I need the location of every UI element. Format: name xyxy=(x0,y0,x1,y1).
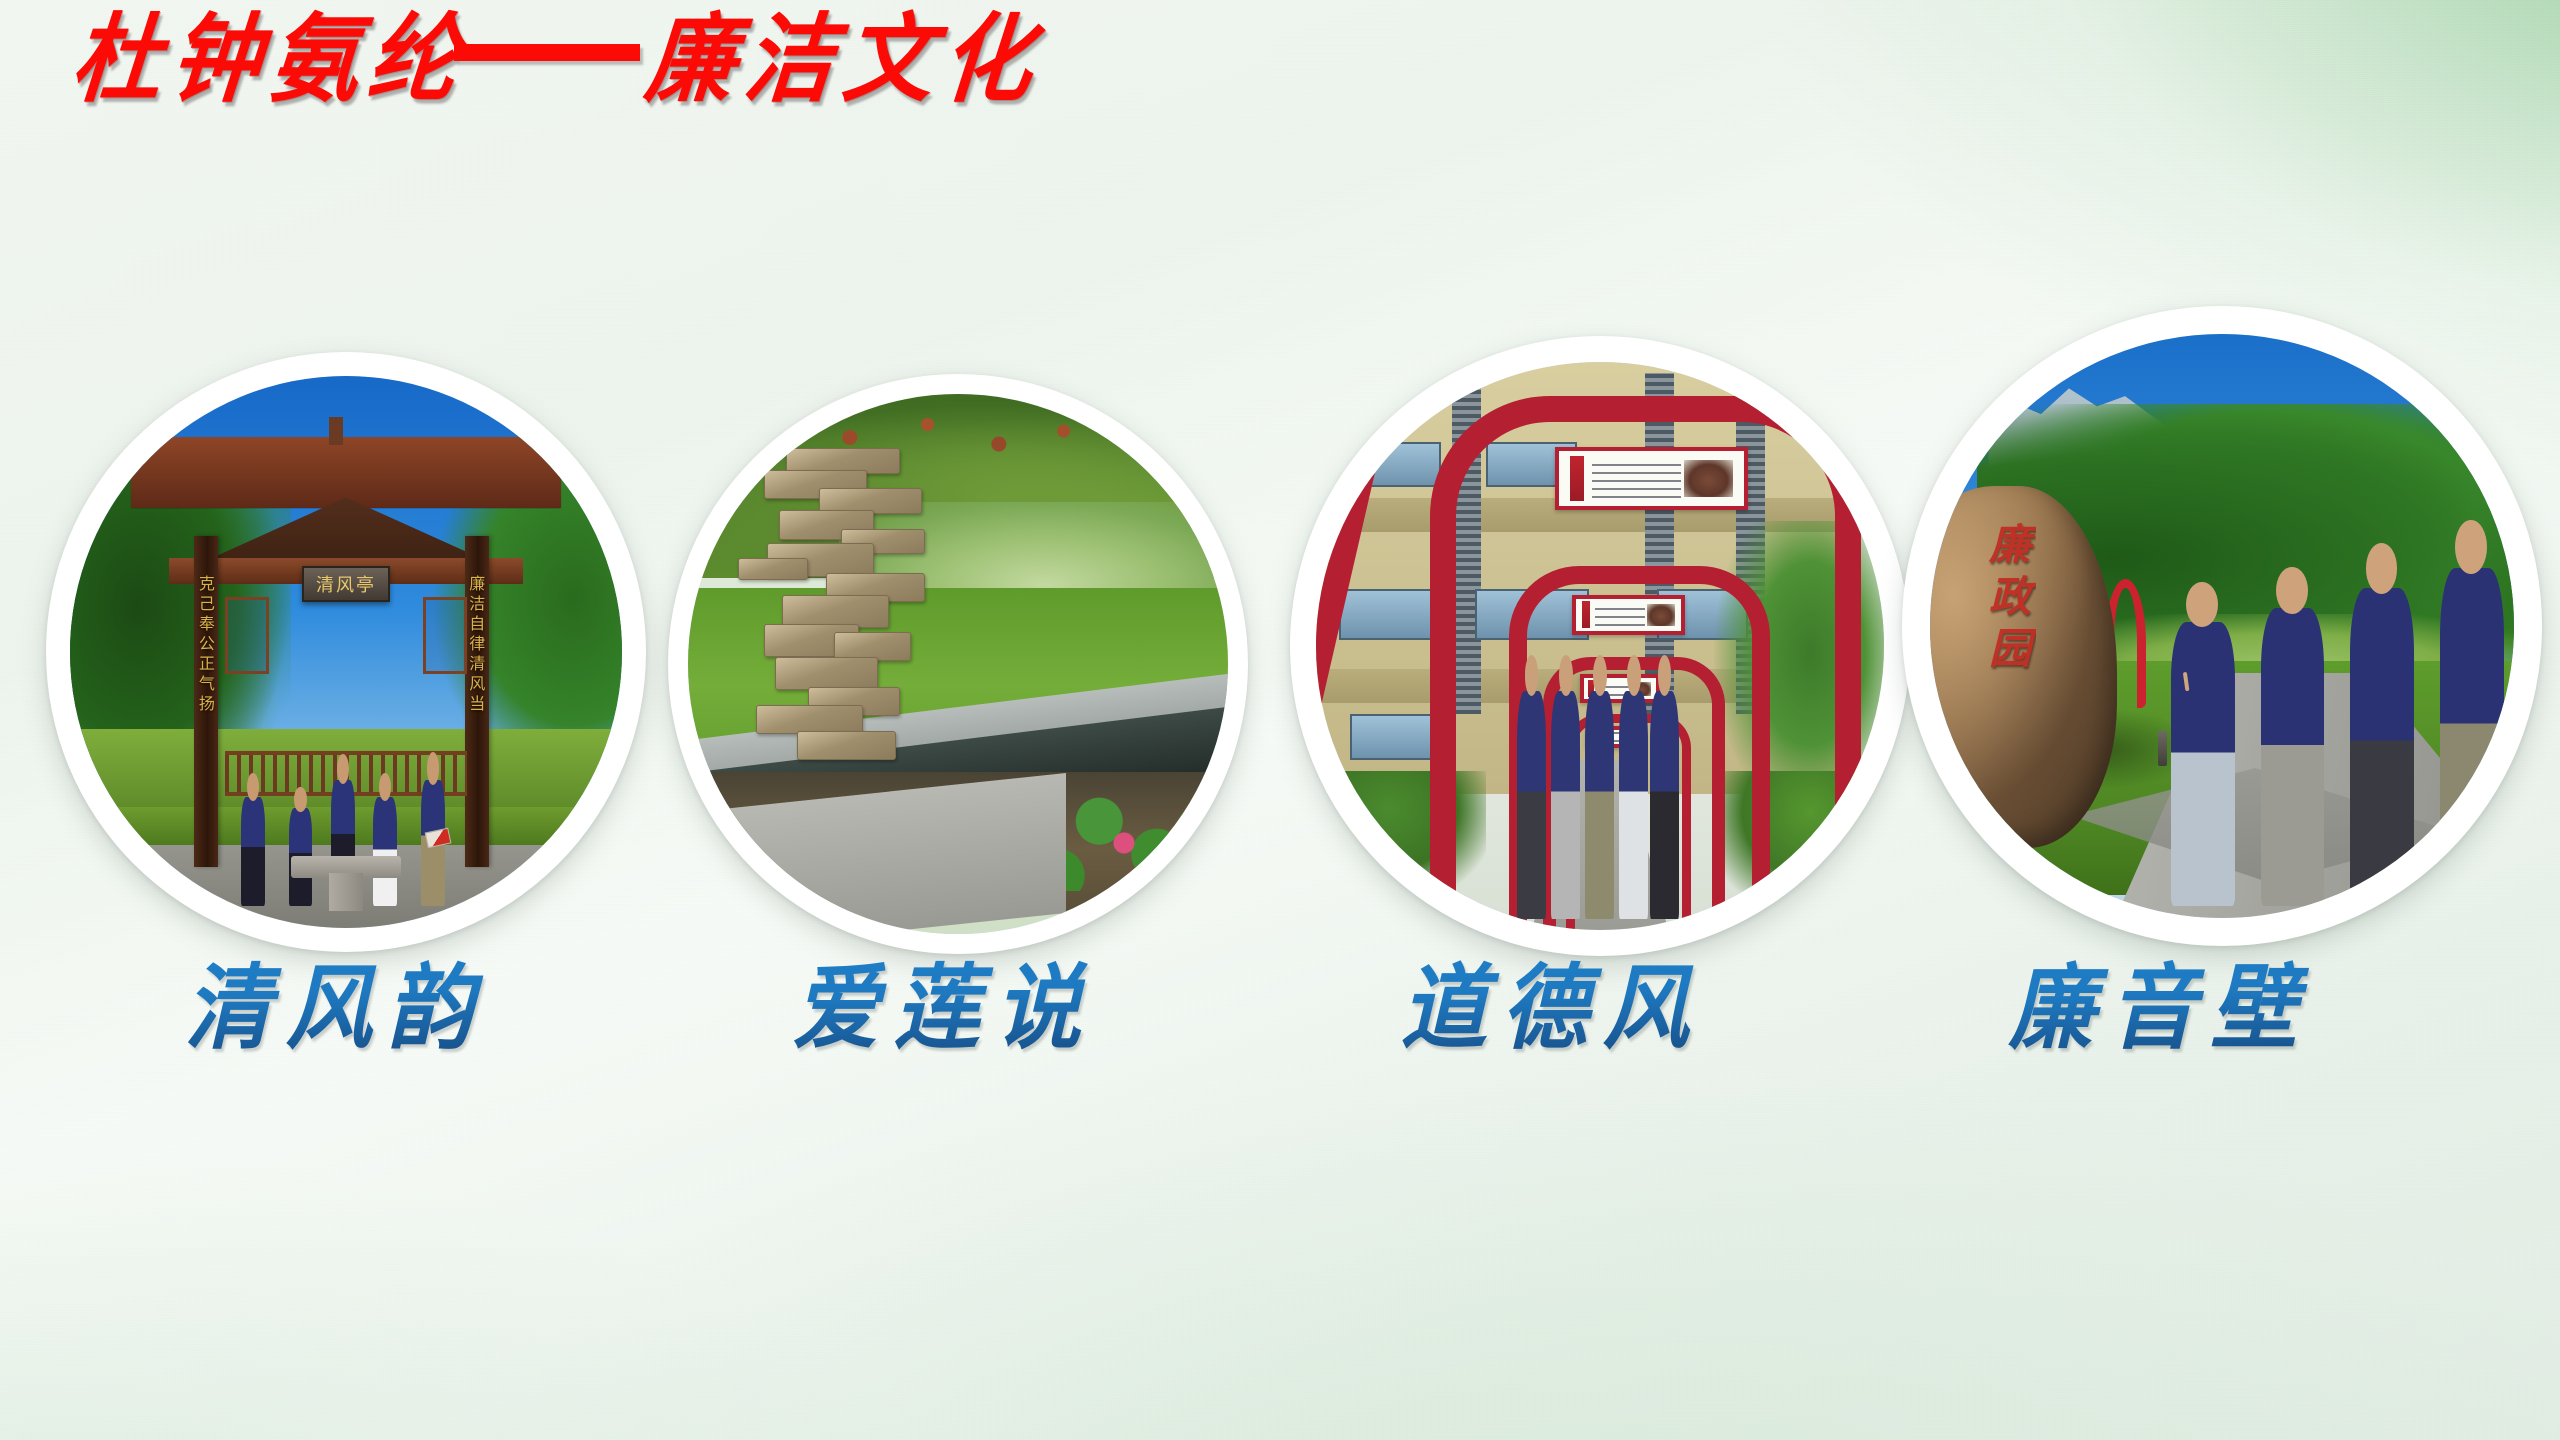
people-group xyxy=(1520,691,1690,918)
photo-image-3 xyxy=(1316,362,1884,930)
board-illustration xyxy=(1647,604,1674,626)
person xyxy=(1585,691,1614,918)
rockery-sculpture xyxy=(753,448,937,815)
person xyxy=(1650,691,1679,918)
person xyxy=(2171,622,2235,907)
person xyxy=(2261,608,2325,906)
board-title-bar xyxy=(1582,601,1590,628)
roof-finial xyxy=(329,417,342,445)
photo-image-4: 廉政园 xyxy=(1930,334,2514,918)
lattice-panel-left xyxy=(225,597,269,674)
person xyxy=(2350,588,2414,906)
booklet xyxy=(425,828,452,848)
person xyxy=(1619,691,1648,918)
scene-pavilion: 清风亭 克己奉公正气扬 廉洁自律清风当 xyxy=(70,376,622,928)
pavilion-plaque: 清风亭 xyxy=(302,566,390,602)
caption-photo-2: 爱莲说 xyxy=(697,953,1191,1064)
scene-engraved-boulder: 廉政园 xyxy=(1930,334,2514,918)
photo-card-1[interactable]: 清风亭 克己奉公正气扬 廉洁自律清风当 xyxy=(46,352,646,952)
person xyxy=(373,797,397,906)
slide-canvas: 杜钟氨纶 廉洁文化 xyxy=(0,0,2560,1440)
photo-card-2[interactable] xyxy=(668,374,1248,954)
board-title-bar xyxy=(1570,456,1585,502)
page-title: 杜钟氨纶 廉洁文化 xyxy=(72,14,1026,107)
person xyxy=(2440,568,2504,907)
people-group xyxy=(236,762,501,906)
pillar-couplet-right: 廉洁自律清风当 xyxy=(467,575,487,715)
rock-slab xyxy=(797,731,896,760)
stone-table-base xyxy=(329,873,362,912)
display-board-2 xyxy=(1572,595,1686,635)
pillar-couplet-left: 克己奉公正气扬 xyxy=(197,575,217,715)
photo-card-4[interactable]: 廉政园 xyxy=(1902,306,2542,946)
person xyxy=(241,797,265,906)
rock-slab xyxy=(775,657,878,690)
board-text-lines xyxy=(1592,459,1681,498)
caption-photo-4: 廉音壁 xyxy=(1913,953,2407,1064)
window xyxy=(1350,714,1441,759)
photo-image-2 xyxy=(688,394,1228,934)
scene-red-arch-corridor xyxy=(1316,362,1884,930)
title-left-text: 杜钟氨纶 xyxy=(67,8,471,112)
person xyxy=(1551,691,1580,918)
title-right-text: 廉洁文化 xyxy=(641,8,1045,112)
rock-slab xyxy=(738,558,808,580)
boulder-engraved-text: 廉政园 xyxy=(1967,522,2037,804)
caption-photo-1: 清风韵 xyxy=(89,953,583,1064)
lattice-panel-right xyxy=(423,597,467,674)
caption-row: 清风韵 爱莲说 道德风 廉音壁 xyxy=(0,958,2560,1098)
photo-image-1: 清风亭 克己奉公正气扬 廉洁自律清风当 xyxy=(70,376,622,928)
person xyxy=(1517,691,1546,918)
board-text-lines xyxy=(1595,603,1646,626)
photo-gallery: 清风亭 克己奉公正气扬 廉洁自律清风当 xyxy=(0,352,2560,952)
scene-lotus-pond xyxy=(688,394,1228,934)
people-group xyxy=(2164,568,2514,907)
board-illustration xyxy=(1684,460,1732,497)
pointing-arm xyxy=(2187,672,2200,688)
title-dash-icon xyxy=(454,44,640,61)
photo-card-3[interactable] xyxy=(1290,336,1910,956)
display-board-1 xyxy=(1555,447,1748,509)
rock-slab xyxy=(782,595,888,628)
caption-photo-3: 道德风 xyxy=(1305,953,1799,1064)
